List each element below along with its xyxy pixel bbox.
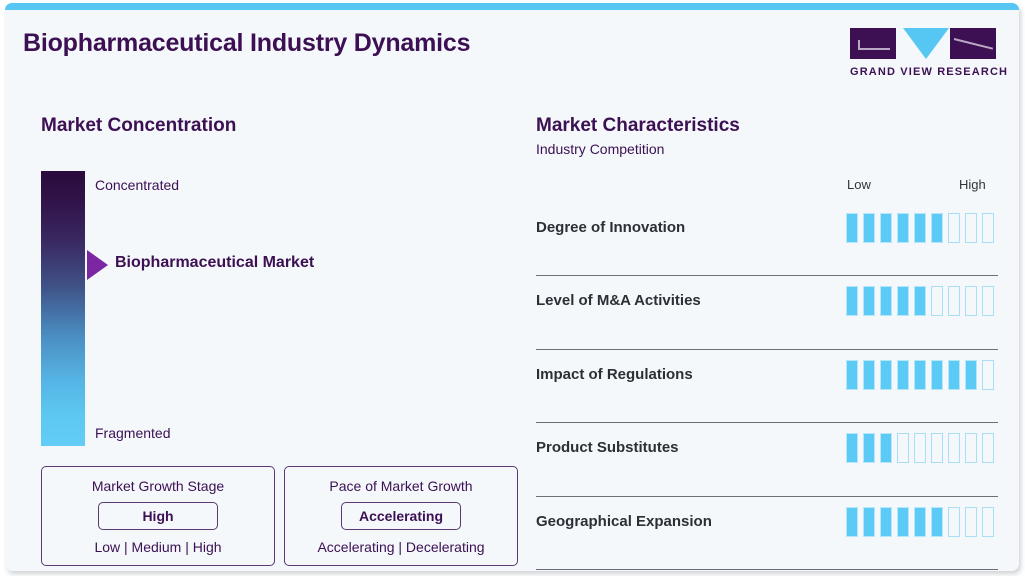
rating-segment-filled — [880, 213, 892, 243]
stat-value-badge: High — [98, 502, 218, 530]
rating-segment-filled — [863, 213, 875, 243]
characteristic-row: Level of M&A Activities — [536, 276, 998, 349]
content-card: Biopharmaceutical Industry Dynamics GRAN… — [5, 3, 1019, 571]
characteristic-row: Degree of Innovation — [536, 203, 998, 276]
rating-segment-filled — [897, 286, 909, 316]
rating-segment-empty — [931, 433, 943, 463]
rating-segment-empty — [948, 286, 960, 316]
rating-segment-filled — [846, 433, 858, 463]
rating-segment-empty — [948, 433, 960, 463]
rating-segment-filled — [914, 360, 926, 390]
characteristic-label: Impact of Regulations — [536, 366, 693, 383]
rating-segment-empty — [914, 433, 926, 463]
rating-segment-empty — [965, 213, 977, 243]
market-position-label: Biopharmaceutical Market — [115, 254, 314, 272]
rating-segment-empty — [965, 286, 977, 316]
rating-segment-filled — [880, 433, 892, 463]
characteristic-rating-bars — [846, 213, 994, 243]
market-concentration-panel: Market Concentration — [41, 115, 521, 137]
stat-scale: Low | Medium | High — [50, 539, 266, 555]
characteristic-label: Level of M&A Activities — [536, 292, 701, 309]
scale-header: Low High — [536, 177, 998, 195]
stat-title: Pace of Market Growth — [293, 478, 509, 494]
logo-marks — [850, 28, 996, 60]
rating-segment-empty — [982, 213, 994, 243]
stat-box-market-growth-stage: Market Growth Stage High Low | Medium | … — [41, 466, 275, 566]
characteristic-rating-bars — [846, 286, 994, 316]
rating-segment-empty — [982, 360, 994, 390]
rating-segment-filled — [897, 360, 909, 390]
rating-segment-empty — [982, 507, 994, 537]
logo-text: GRAND VIEW RESEARCH — [850, 66, 1000, 78]
concentration-gradient-bar — [41, 171, 85, 446]
characteristic-label: Product Substitutes — [536, 439, 679, 456]
stat-box-pace-of-market-growth: Pace of Market Growth Accelerating Accel… — [284, 466, 518, 566]
rating-segment-empty — [965, 507, 977, 537]
rating-segment-filled — [965, 360, 977, 390]
rating-segment-filled — [880, 360, 892, 390]
rating-segment-filled — [931, 213, 943, 243]
characteristic-label: Geographical Expansion — [536, 513, 712, 530]
logo-right-block-icon — [950, 28, 996, 59]
rating-segment-filled — [914, 507, 926, 537]
accent-top-bar — [5, 3, 1019, 10]
rating-segment-filled — [863, 360, 875, 390]
rating-segment-filled — [931, 507, 943, 537]
page-title: Biopharmaceutical Industry Dynamics — [23, 29, 470, 58]
gradient-bottom-label: Fragmented — [95, 425, 170, 441]
concentration-gradient-group: Concentrated Fragmented Biopharmaceutica… — [41, 171, 521, 446]
rating-segment-filled — [846, 286, 858, 316]
rating-segment-filled — [931, 360, 943, 390]
market-position-marker-icon — [87, 250, 108, 280]
characteristic-row: Impact of Regulations — [536, 350, 998, 423]
stat-title: Market Growth Stage — [50, 478, 266, 494]
market-characteristics-panel: Market Characteristics Industry Competit… — [536, 115, 998, 157]
characteristic-rating-bars — [846, 360, 994, 390]
rating-segment-empty — [982, 433, 994, 463]
characteristic-rating-bars — [846, 433, 994, 463]
rating-segment-empty — [948, 507, 960, 537]
scale-high-label: High — [959, 177, 986, 192]
stat-value-badge: Accelerating — [341, 502, 461, 530]
market-concentration-title: Market Concentration — [41, 115, 521, 137]
rating-segment-filled — [897, 507, 909, 537]
rating-segment-empty — [965, 433, 977, 463]
rating-segment-filled — [863, 286, 875, 316]
scale-low-label: Low — [847, 177, 871, 192]
stat-scale: Accelerating | Decelerating — [293, 539, 509, 555]
characteristic-row: Product Substitutes — [536, 423, 998, 496]
rating-segment-empty — [982, 286, 994, 316]
characteristic-label: Degree of Innovation — [536, 219, 685, 236]
rating-segment-filled — [863, 433, 875, 463]
characteristic-rating-bars — [846, 507, 994, 537]
rating-segment-empty — [897, 433, 909, 463]
logo-left-block-icon — [850, 28, 896, 59]
rating-segment-filled — [880, 507, 892, 537]
rating-segment-filled — [880, 286, 892, 316]
rating-segment-empty — [948, 213, 960, 243]
market-characteristics-subtitle: Industry Competition — [536, 141, 998, 157]
rating-segment-filled — [863, 507, 875, 537]
market-characteristics-title: Market Characteristics — [536, 115, 998, 137]
grand-view-research-logo: GRAND VIEW RESEARCH — [850, 28, 1000, 78]
rating-segment-filled — [897, 213, 909, 243]
rating-segment-filled — [948, 360, 960, 390]
stat-boxes: Market Growth Stage High Low | Medium | … — [41, 466, 523, 566]
rating-segment-filled — [846, 213, 858, 243]
characteristics-rows: Degree of InnovationLevel of M&A Activit… — [536, 203, 998, 570]
characteristic-row: Geographical Expansion — [536, 497, 998, 570]
gradient-top-label: Concentrated — [95, 177, 179, 193]
rating-segment-filled — [914, 286, 926, 316]
rating-segment-filled — [914, 213, 926, 243]
rating-segment-filled — [846, 507, 858, 537]
logo-triangle-icon — [903, 28, 949, 59]
rating-segment-filled — [846, 360, 858, 390]
rating-segment-empty — [931, 286, 943, 316]
infographic-page: Biopharmaceutical Industry Dynamics GRAN… — [0, 0, 1025, 576]
